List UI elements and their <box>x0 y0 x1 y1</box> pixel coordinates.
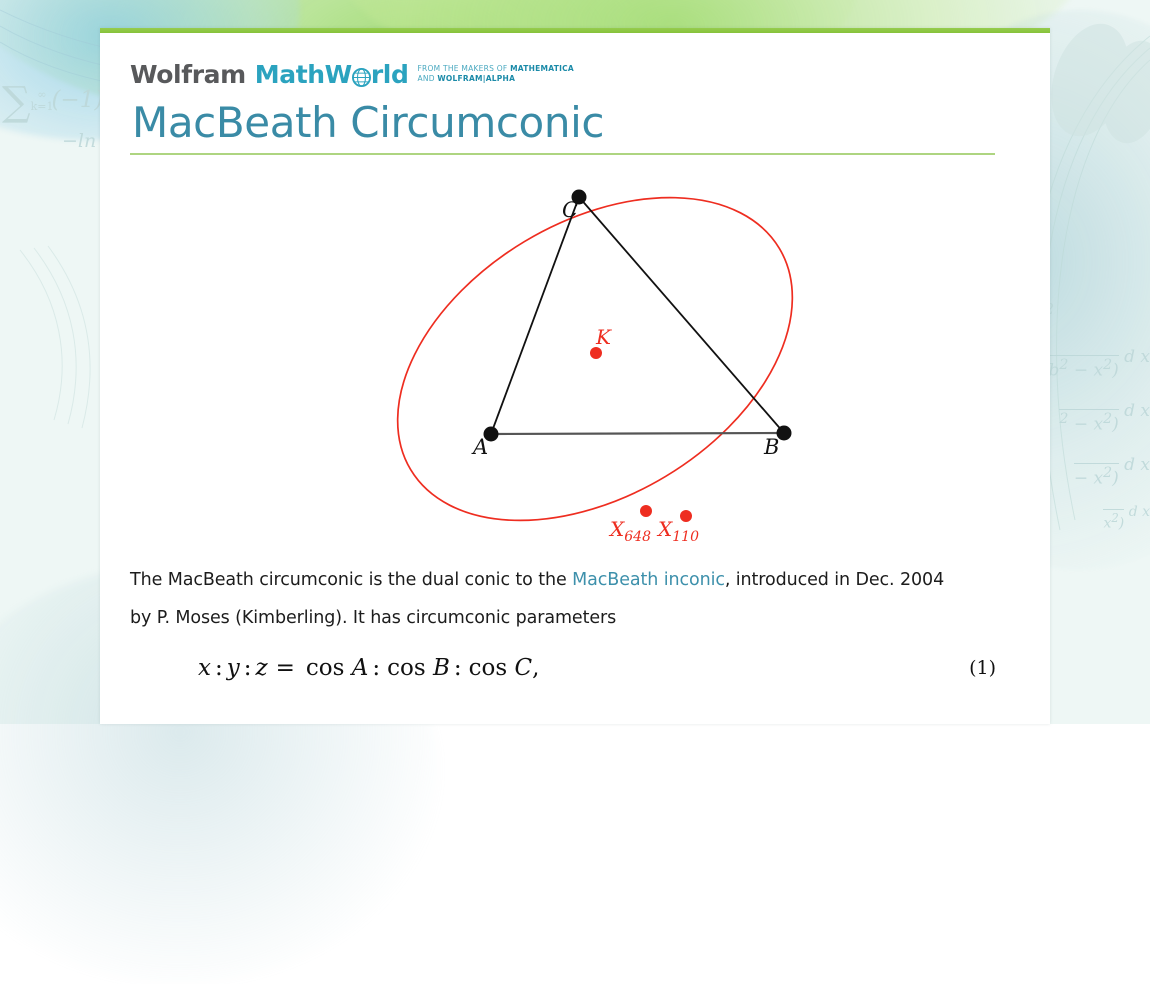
differential: d x <box>1124 401 1150 421</box>
card-content: Wolfram MathW rld FROM THE MAKERS OF MAT… <box>100 33 1050 724</box>
differential: d x <box>1124 455 1150 475</box>
link-macbeath-inconic[interactable]: MacBeath inconic <box>572 570 725 590</box>
eq-equals: = <box>276 655 295 681</box>
body-text-before-link: The MacBeath circumconic is the dual con… <box>130 570 572 590</box>
fraction-denominator: (b2 − x2) <box>1042 356 1119 381</box>
eq-arg-c: C <box>515 655 533 681</box>
sigma-glyph: ∑ <box>2 79 31 125</box>
eq-cos-c: cos <box>469 655 508 681</box>
logo-wolfram-text: Wolfram <box>130 62 246 87</box>
triangle-side-ab <box>491 433 784 434</box>
vertex-label-a: A <box>471 435 488 459</box>
eq-sep-3: : <box>372 655 380 681</box>
eq-lhs-y: y <box>227 655 240 681</box>
equation-row: x:y:z=cos A:cos B:cos C, (1) <box>130 655 996 681</box>
triangle-side-cb <box>579 197 784 433</box>
fraction-numerator <box>1074 442 1119 464</box>
logo-mathworld-text: MathW rld <box>255 62 409 87</box>
eq-comma: , <box>532 655 539 681</box>
logo-rld-letters: rld <box>371 62 409 87</box>
eq-cos-a: cos <box>306 655 345 681</box>
watermark-integral-2: 2 − x2) d x <box>1059 388 1150 435</box>
eq-arg-b: B <box>433 655 450 681</box>
point-x110 <box>680 510 692 522</box>
fraction-numerator <box>1059 388 1118 410</box>
equation-expression: x:y:z=cos A:cos B:cos C, <box>198 655 539 681</box>
fraction-denominator: 2 − x2) <box>1059 410 1118 435</box>
logo-tagline: FROM THE MAKERS OF MATHEMATICA AND WOLFR… <box>417 64 573 87</box>
fraction-denominator: x2) <box>1103 510 1124 532</box>
tagline-2-plain: AND <box>417 74 437 83</box>
watermark-ln: −ln <box>62 130 96 152</box>
article-body-paragraph: The MacBeath circumconic is the dual con… <box>130 561 970 637</box>
watermark-integral-3: − x2) d x <box>1074 442 1150 489</box>
fraction-numerator <box>1042 334 1119 356</box>
eq-lhs-z: z <box>255 655 267 681</box>
point-x648 <box>640 505 652 517</box>
fraction: 2 − x2) <box>1059 388 1118 435</box>
tagline-1-plain: FROM THE MAKERS OF <box>417 64 510 73</box>
article-card: Wolfram MathW rld FROM THE MAKERS OF MAT… <box>100 28 1050 724</box>
watermark-integral-4: x2) d x <box>1103 492 1150 532</box>
fraction: − x2) <box>1074 442 1119 489</box>
point-label-x648: X648 <box>608 517 651 545</box>
logo-w-letter: W <box>325 62 352 87</box>
page-title: MacBeath Circumconic <box>132 99 1020 146</box>
differential: d x <box>1124 347 1150 367</box>
globe-icon <box>352 66 371 85</box>
tagline-line-2: AND WOLFRAM|ALPHA <box>417 74 515 83</box>
watermark-integral-1: (b2 − x2) d x <box>1042 334 1150 381</box>
eq-arg-a: A <box>352 655 369 681</box>
fraction-denominator: − x2) <box>1074 464 1119 489</box>
fraction: (b2 − x2) <box>1042 334 1119 381</box>
triangle-side-ac <box>491 197 579 434</box>
eq-lhs-x: x <box>198 655 211 681</box>
site-masthead[interactable]: Wolfram MathW rld FROM THE MAKERS OF MAT… <box>130 33 1020 87</box>
eq-sep-1: : <box>215 655 223 681</box>
equation-number: (1) <box>969 657 996 679</box>
sigma-body: (−1) <box>51 87 103 113</box>
eq-sep-4: : <box>454 655 462 681</box>
tagline-1-bold: MATHEMATICA <box>510 64 574 73</box>
vertex-label-b: B <box>763 435 779 459</box>
title-underline-rule <box>130 153 995 155</box>
eq-cos-b: cos <box>387 655 426 681</box>
fraction-numerator <box>1103 492 1124 510</box>
point-label-k: K <box>595 325 612 349</box>
logo-math-word: Math <box>255 62 325 87</box>
differential: d x <box>1129 504 1150 520</box>
fraction: x2) <box>1103 492 1124 532</box>
figure-container[interactable]: A B C K X648 X110 <box>130 161 1020 551</box>
vertex-label-c: C <box>562 198 578 222</box>
tagline-line-1: FROM THE MAKERS OF MATHEMATICA <box>417 64 573 73</box>
point-label-x110: X110 <box>656 517 699 545</box>
tagline-2-bold: WOLFRAM|ALPHA <box>437 74 515 83</box>
macbeath-circumconic-figure[interactable]: A B C K X648 X110 <box>130 161 1020 551</box>
eq-sep-2: : <box>244 655 252 681</box>
